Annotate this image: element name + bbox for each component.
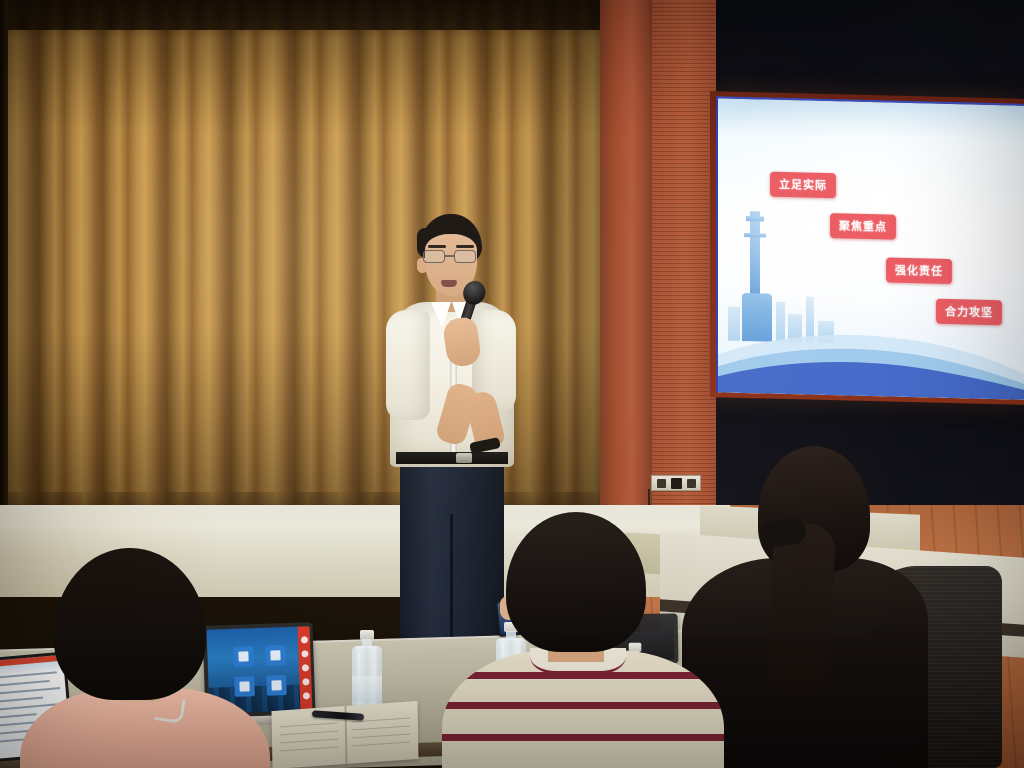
presenter-mouth xyxy=(441,280,457,287)
presenter-brow-right xyxy=(456,245,474,248)
conference-room-photo: 立足实际 聚焦重点 强化责任 合力攻坚 xyxy=(0,0,1024,768)
outlet-socket-icon xyxy=(657,479,666,488)
presenter-brow-left xyxy=(428,245,446,248)
stage-curtain xyxy=(0,0,622,528)
notebook[interactable] xyxy=(272,701,419,768)
left-wall-edge xyxy=(0,0,8,528)
eyeglasses-icon xyxy=(423,250,479,263)
attendee-center xyxy=(452,512,712,768)
attendee-center-hair xyxy=(506,512,646,652)
attendee-left xyxy=(28,548,263,768)
presenter-left-sleeve xyxy=(386,310,430,420)
presenter-belt xyxy=(396,452,508,464)
laptop-side-panel xyxy=(298,626,313,710)
attendee-right xyxy=(718,446,938,768)
slide-label-2: 聚焦重点 xyxy=(830,213,896,240)
attendee-right-ponytail xyxy=(765,522,836,701)
slide-label-3: 强化责任 xyxy=(886,257,952,284)
wood-pillar xyxy=(600,0,658,536)
slide-label-4: 合力攻坚 xyxy=(936,299,1002,326)
curtain-top-shadow xyxy=(0,0,622,30)
presenter-belt-buckle xyxy=(456,453,472,463)
outlet-socket-icon xyxy=(687,479,696,488)
wave-graphic xyxy=(718,314,1024,399)
projection-screen-frame: 立足实际 聚焦重点 强化责任 合力攻坚 xyxy=(710,91,1024,405)
attendee-left-hair xyxy=(54,548,206,700)
outlet-plug-icon xyxy=(671,478,682,489)
slide-label-1: 立足实际 xyxy=(770,172,836,199)
projection-screen[interactable]: 立足实际 聚焦重点 强化责任 合力攻坚 xyxy=(716,96,1024,400)
